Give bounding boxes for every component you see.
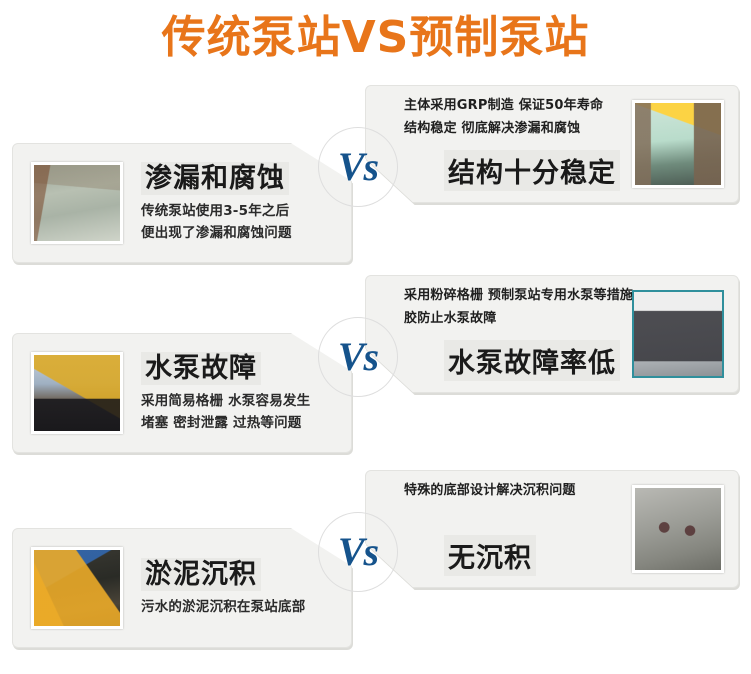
- right-card-description: 主体采用GRP制造 保证50年寿命 结构稳定 彻底解决渗漏和腐蚀: [404, 95, 603, 141]
- right-card-2[interactable]: 采用粉碎格栅 预制泵站专用水泵等措施 胶防止水泵故障 水泵故障率低: [365, 275, 739, 393]
- prefab-pump-equipment-photo: [632, 290, 724, 378]
- right-desc-line: 采用粉碎格栅 预制泵站专用水泵等措施: [404, 285, 633, 308]
- vs-badge-2: Vs: [318, 317, 398, 397]
- left-desc-line: 传统泵站使用3-5年之后: [141, 200, 341, 222]
- right-card-3[interactable]: 特殊的底部设计解决沉积问题 无沉积: [365, 470, 739, 588]
- comparison-row-1: 主体采用GRP制造 保证50年寿命 结构稳定 彻底解决渗漏和腐蚀 结构十分稳定 …: [0, 85, 751, 285]
- vs-badge-3: Vs: [318, 512, 398, 592]
- leaking-corroded-pump-pit-photo: [31, 162, 123, 244]
- vs-label: Vs: [338, 532, 378, 572]
- failed-pumps-crane-photo: [31, 352, 123, 434]
- right-card-heading: 结构十分稳定: [444, 150, 620, 191]
- page-title: 传统泵站VS预制泵站: [162, 14, 590, 62]
- left-card-description: 采用简易格栅 水泵容易发生 堵塞 密封泄露 过热等问题: [141, 390, 341, 435]
- vs-label: Vs: [338, 147, 378, 187]
- right-desc-line: 胶防止水泵故障: [404, 308, 633, 331]
- right-desc-line: 主体采用GRP制造 保证50年寿命: [404, 95, 603, 118]
- left-card-3[interactable]: 淤泥沉积 污水的淤泥沉积在泵站底部: [12, 528, 352, 648]
- page-title-wrapper: 传统泵站VS预制泵站: [0, 14, 751, 62]
- vs-label: Vs: [338, 337, 378, 377]
- grp-tank-installation-photo: [632, 100, 724, 188]
- left-desc-line: 便出现了渗漏和腐蚀问题: [141, 222, 341, 244]
- comparison-row-3: 特殊的底部设计解决沉积问题 无沉积 淤泥沉积 污水的淤泥沉积在泵站底部 Vs: [0, 470, 751, 670]
- right-desc-line: 结构稳定 彻底解决渗漏和腐蚀: [404, 118, 603, 141]
- left-card-heading: 渗漏和腐蚀: [141, 162, 289, 195]
- left-card-1[interactable]: 渗漏和腐蚀 传统泵站使用3-5年之后 便出现了渗漏和腐蚀问题: [12, 143, 352, 263]
- right-card-description: 采用粉碎格栅 预制泵站专用水泵等措施 胶防止水泵故障: [404, 285, 633, 331]
- left-card-heading: 水泵故障: [141, 352, 261, 385]
- right-card-heading: 水泵故障率低: [444, 340, 620, 381]
- left-desc-line: 采用简易格栅 水泵容易发生: [141, 390, 341, 412]
- right-card-1[interactable]: 主体采用GRP制造 保证50年寿命 结构稳定 彻底解决渗漏和腐蚀 结构十分稳定: [365, 85, 739, 203]
- clean-pump-station-bottom-photo: [632, 485, 724, 573]
- comparison-row-2: 采用粉碎格栅 预制泵站专用水泵等措施 胶防止水泵故障 水泵故障率低 水泵故障 采…: [0, 275, 751, 475]
- left-card-description: 污水的淤泥沉积在泵站底部: [141, 596, 341, 618]
- left-card-2[interactable]: 水泵故障 采用简易格栅 水泵容易发生 堵塞 密封泄露 过热等问题: [12, 333, 352, 453]
- right-desc-line: 特殊的底部设计解决沉积问题: [404, 480, 576, 503]
- left-card-heading: 淤泥沉积: [141, 558, 261, 591]
- right-card-description: 特殊的底部设计解决沉积问题: [404, 480, 576, 503]
- left-desc-line: 堵塞 密封泄露 过热等问题: [141, 412, 341, 434]
- vs-badge-1: Vs: [318, 127, 398, 207]
- right-card-heading: 无沉积: [444, 535, 536, 576]
- left-desc-line: 污水的淤泥沉积在泵站底部: [141, 596, 341, 618]
- left-card-description: 传统泵站使用3-5年之后 便出现了渗漏和腐蚀问题: [141, 200, 341, 245]
- sludge-deposit-pit-photo: [31, 547, 123, 629]
